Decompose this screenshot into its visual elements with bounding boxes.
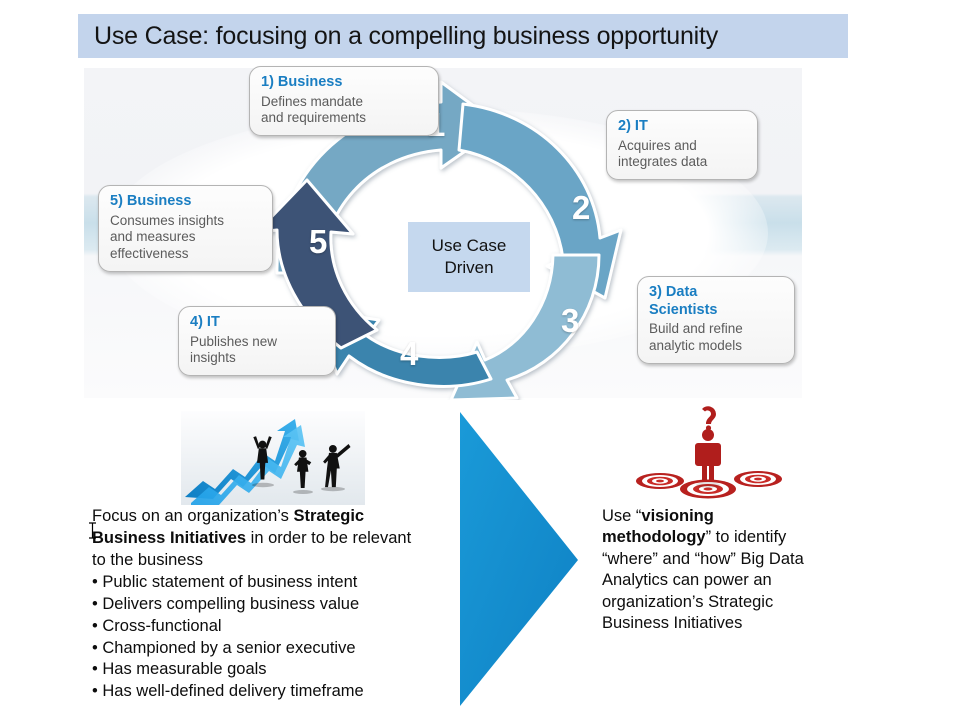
- right-text-block: Use “visioning methodology” to identify …: [602, 506, 827, 635]
- process-arrow-triangle: [458, 410, 580, 708]
- center-label-line1: Use Case: [432, 235, 507, 257]
- left-bullet-6: • Has well-defined delivery timeframe: [92, 681, 422, 703]
- callout-2-heading: 2) IT: [618, 118, 746, 136]
- left-intro-paragraph: Focus on an organization’s Strategic Bus…: [92, 506, 422, 571]
- callout-4-heading: 4) IT: [190, 314, 324, 332]
- left-bullet-3: • Cross-functional: [92, 616, 422, 638]
- callout-box-3: 3) Data Scientists Build and refine anal…: [637, 276, 795, 364]
- growth-chart-image: [181, 411, 365, 505]
- callout-3-body: Build and refine analytic models: [649, 321, 783, 354]
- callout-box-2: 2) IT Acquires and integrates data: [606, 110, 758, 180]
- callout-2-body: Acquires and integrates data: [618, 138, 746, 171]
- right-text-part1: Use “: [602, 507, 641, 525]
- callout-box-1: 1) Business Defines mandate and requirem…: [249, 66, 439, 136]
- callout-box-4: 4) IT Publishes new insights: [178, 306, 336, 376]
- cycle-number-2: 2: [572, 189, 590, 227]
- callout-5-body: Consumes insights and measures effective…: [110, 213, 261, 263]
- callout-box-5: 5) Business Consumes insights and measur…: [98, 185, 273, 272]
- cycle-number-3: 3: [561, 302, 579, 340]
- left-bullet-4: • Championed by a senior executive: [92, 638, 422, 660]
- callout-1-body: Defines mandate and requirements: [261, 94, 427, 127]
- callout-5-heading: 5) Business: [110, 193, 261, 211]
- cycle-number-5: 5: [309, 223, 327, 261]
- callout-1-heading: 1) Business: [261, 74, 427, 92]
- left-intro-part1: Focus on an organization’s: [92, 507, 294, 525]
- page-title: Use Case: focusing on a compelling busin…: [94, 22, 718, 51]
- center-label-line2: Driven: [444, 257, 493, 279]
- targets-figure-image: [632, 403, 788, 503]
- left-bullet-5: • Has measurable goals: [92, 659, 422, 681]
- left-bullet-2: • Delivers compelling business value: [92, 594, 422, 616]
- callout-3-heading: 3) Data Scientists: [649, 284, 783, 319]
- cycle-center-label: Use Case Driven: [408, 222, 530, 292]
- title-banner: Use Case: focusing on a compelling busin…: [78, 14, 848, 58]
- cycle-number-4: 4: [400, 335, 418, 373]
- left-bullet-1: • Public statement of business intent: [92, 572, 422, 594]
- left-text-block: Focus on an organization’s Strategic Bus…: [92, 506, 422, 703]
- callout-4-body: Publishes new insights: [190, 334, 324, 367]
